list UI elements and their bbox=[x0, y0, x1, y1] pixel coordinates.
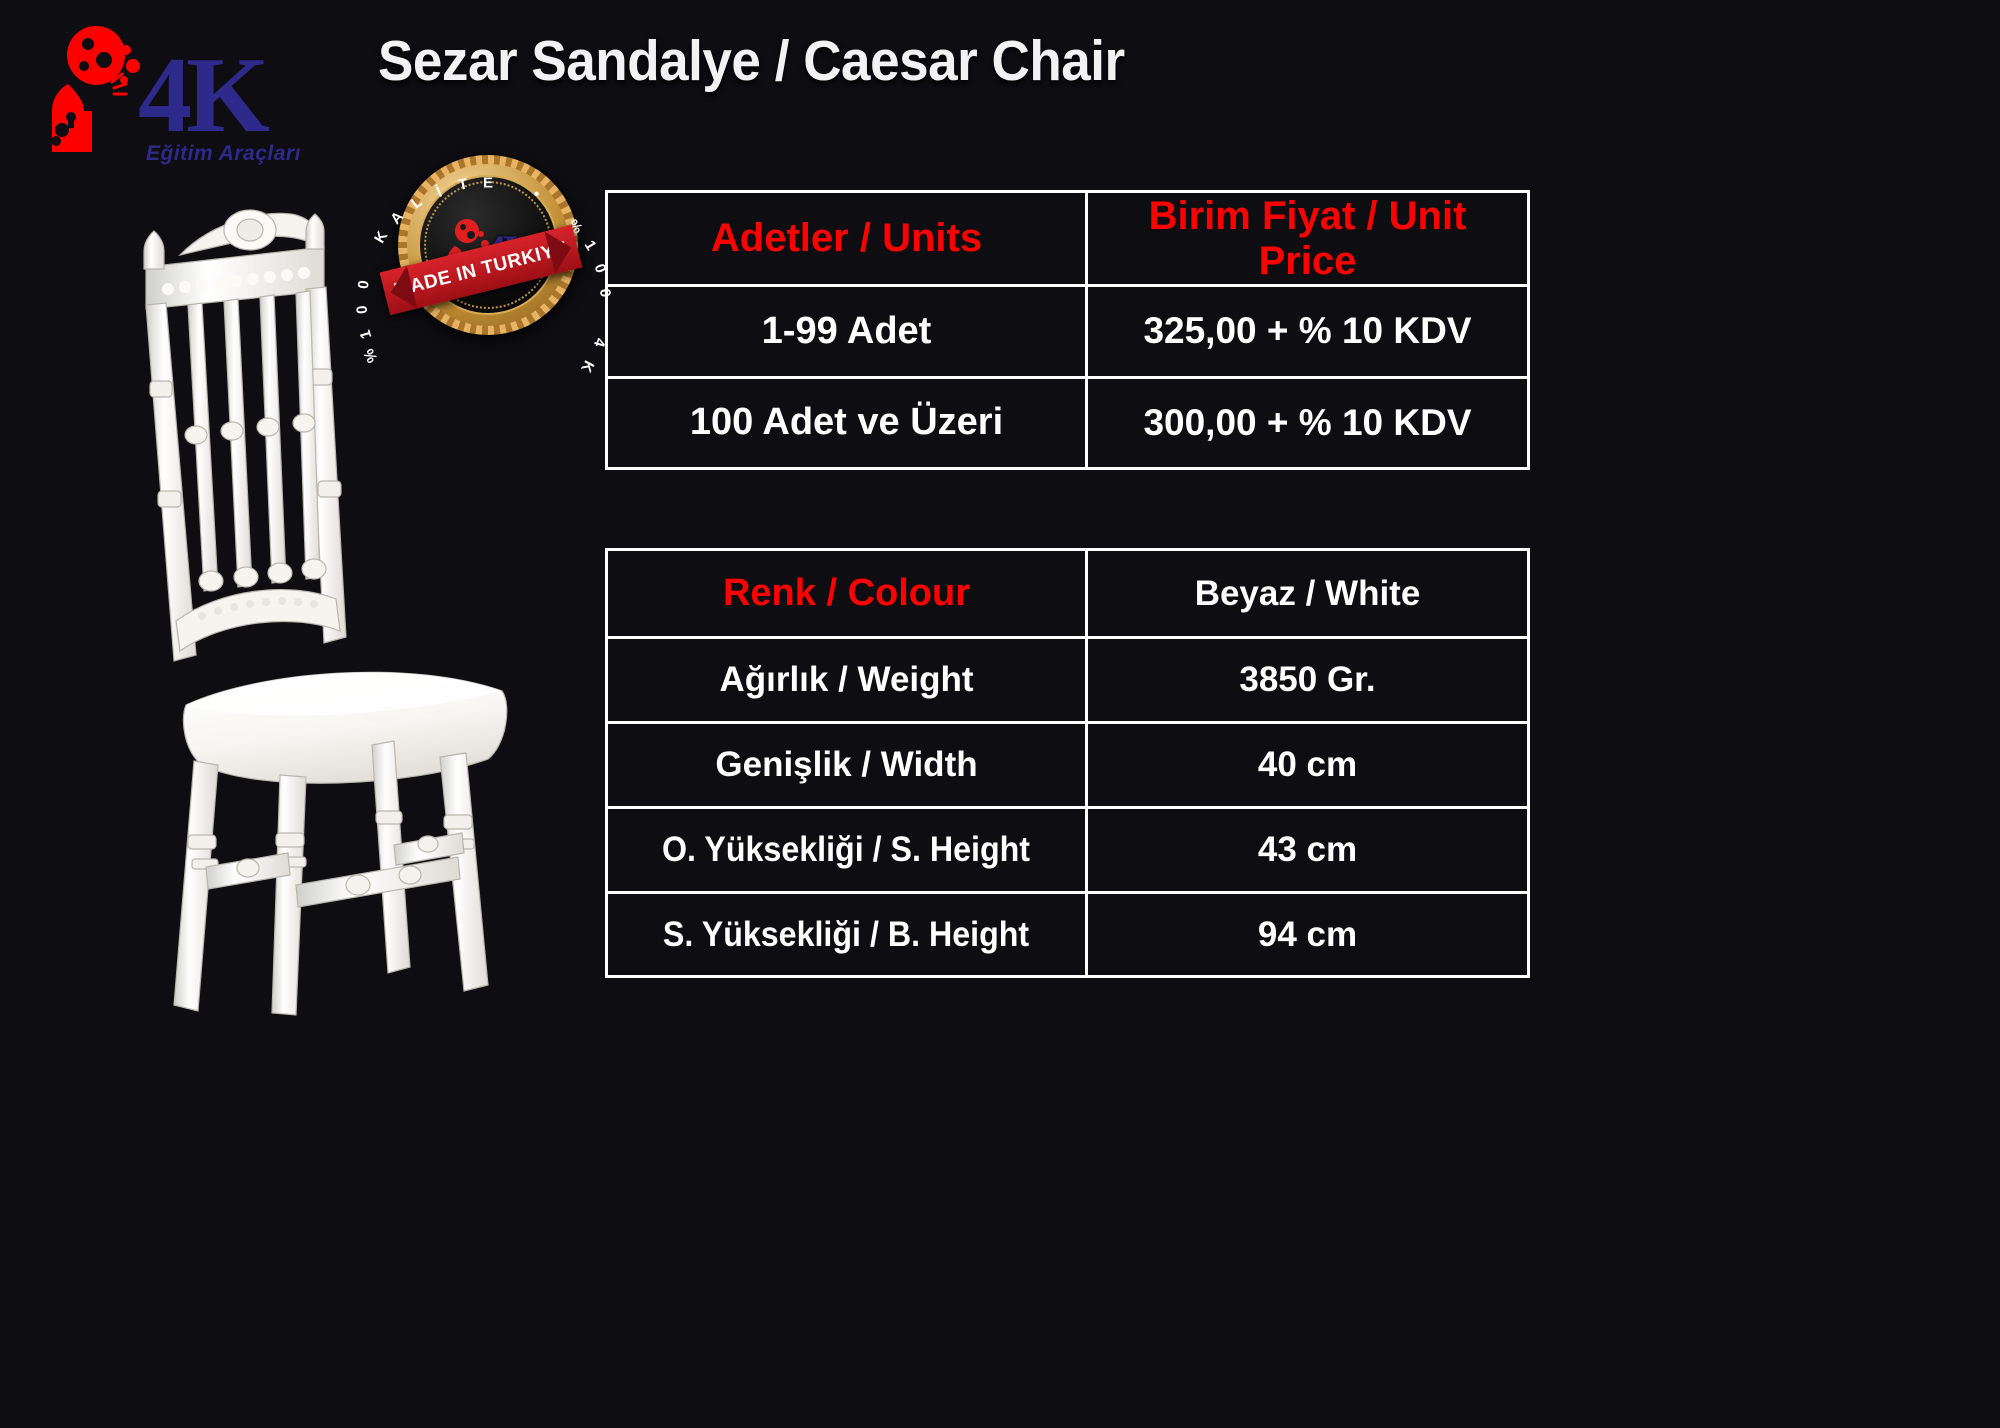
cell-price: 325,00 + % 10 KDV bbox=[1088, 287, 1527, 375]
spec-label-seat-height: O. Yüksekliği / S. Height bbox=[608, 809, 1088, 891]
page-title: Sezar Sandalye / Caesar Chair bbox=[378, 28, 1401, 94]
spec-value-colour: Beyaz / White bbox=[1088, 551, 1527, 636]
spec-label-back-height: S. Yüksekliği / B. Height bbox=[608, 894, 1088, 976]
header-units: Adetler / Units bbox=[608, 193, 1088, 284]
cell-units: 1-99 Adet bbox=[608, 287, 1088, 375]
table-row: 100 Adet ve Üzeri 300,00 + % 10 KDV bbox=[608, 376, 1527, 467]
table-row: 1-99 Adet 325,00 + % 10 KDV bbox=[608, 284, 1527, 375]
product-spec-sheet: 4K Eğitim Araçları Sezar Sandalye / Caes… bbox=[0, 0, 2000, 1428]
brand-logo: 4K Eğitim Araçları bbox=[38, 22, 318, 157]
table-row: O. Yüksekliği / S. Height 43 cm bbox=[608, 806, 1527, 891]
spec-label-width: Genişlik / Width bbox=[608, 724, 1088, 806]
header-unit-price: Birim Fiyat / Unit Price bbox=[1088, 193, 1527, 284]
table-header-row: Adetler / Units Birim Fiyat / Unit Price bbox=[608, 193, 1527, 284]
product-photo-chair bbox=[110, 185, 530, 1025]
table-row: Renk / Colour Beyaz / White bbox=[608, 551, 1527, 636]
spec-value-width: 40 cm bbox=[1088, 724, 1527, 806]
specs-table: Renk / Colour Beyaz / White Ağırlık / We… bbox=[605, 548, 1530, 978]
cell-units: 100 Adet ve Üzeri bbox=[608, 379, 1088, 467]
pricing-table: Adetler / Units Birim Fiyat / Unit Price… bbox=[605, 190, 1530, 470]
spec-value-seat-height: 43 cm bbox=[1088, 809, 1527, 891]
spec-label-colour: Renk / Colour bbox=[608, 551, 1088, 636]
cell-price: 300,00 + % 10 KDV bbox=[1088, 379, 1527, 467]
logo-text: 4K bbox=[138, 42, 264, 150]
spec-value-weight: 3850 Gr. bbox=[1088, 639, 1527, 721]
spec-label-weight: Ağırlık / Weight bbox=[608, 639, 1088, 721]
badge-arc-char: K bbox=[577, 358, 597, 376]
table-row: S. Yüksekliği / B. Height 94 cm bbox=[608, 891, 1527, 976]
badge-arc-char: • bbox=[531, 185, 543, 203]
spec-value-back-height: 94 cm bbox=[1088, 894, 1527, 976]
table-row: Genişlik / Width 40 cm bbox=[608, 721, 1527, 806]
logo-tagline: Eğitim Araçları bbox=[146, 142, 301, 166]
table-row: Ağırlık / Weight 3850 Gr. bbox=[608, 636, 1527, 721]
